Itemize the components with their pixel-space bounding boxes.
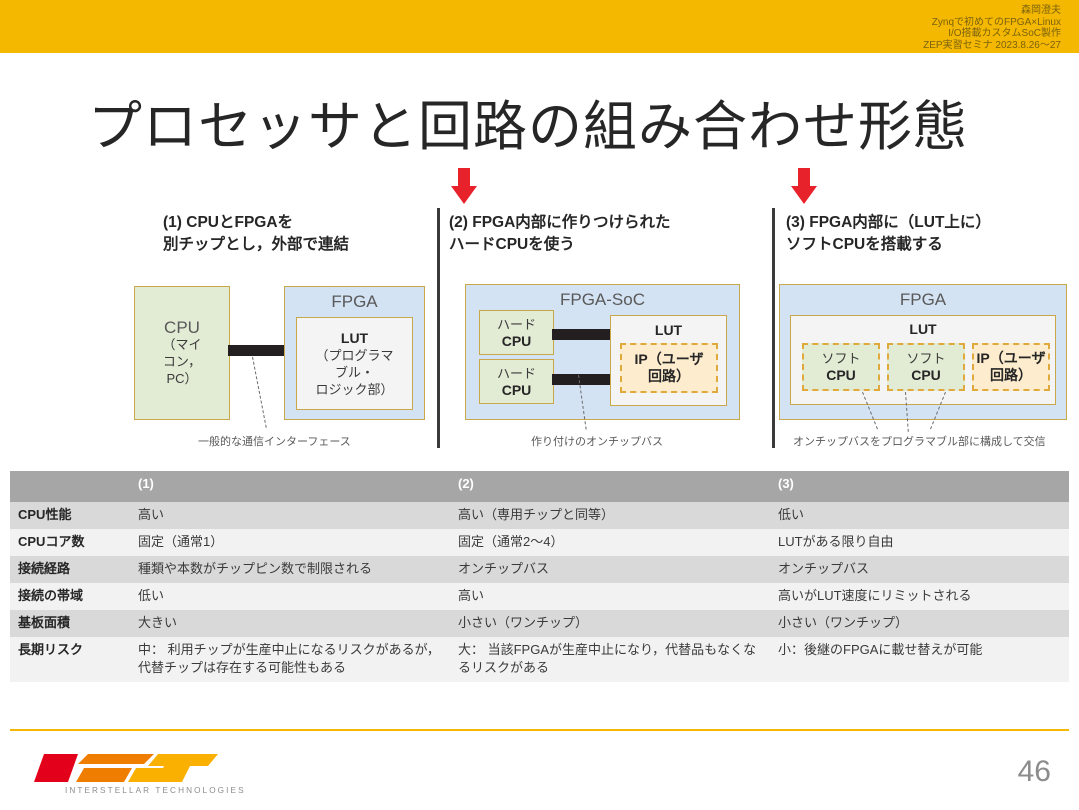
table-cell-3: 低い: [770, 502, 1069, 529]
table-row-label: 長期リスク: [10, 637, 130, 682]
diagram2-soc-label: FPGA-SoC: [466, 290, 739, 310]
diagram3-softcpu1-line2: CPU: [804, 367, 878, 384]
diagram2-onchip-bus-1: [552, 329, 612, 340]
table-cell-1: 種類や本数がチップピン数で制限される: [130, 556, 450, 583]
page-number: 46: [1018, 755, 1051, 789]
column-heading-3-line1: (3) FPGA内部に（LUT上に）: [786, 212, 1079, 234]
header-line-1: 森岡澄夫: [923, 5, 1061, 17]
table-row: CPU性能 高い 高い（専用チップと同等） 低い: [10, 502, 1069, 529]
diagram1-cpu-line3: コン，: [135, 353, 229, 370]
diagram1-fpga-label: FPGA: [285, 292, 424, 312]
diagram2-hardcpu-box-1: ハード CPU: [479, 310, 554, 355]
diagram3-ip-box: IP（ユーザ 回路）: [972, 343, 1050, 391]
table-row-label: CPUコア数: [10, 529, 130, 556]
diagram2-onchip-bus-2: [552, 374, 612, 385]
table-cell-3: 小：後継のFPGAに載せ替えが可能: [770, 637, 1069, 682]
table-row-label: 基板面積: [10, 610, 130, 637]
column-heading-3-line2: ソフトCPUを搭載する: [786, 234, 1079, 256]
table-cell-3: オンチップバス: [770, 556, 1069, 583]
table-row: 長期リスク 中： 利用チップが生産中止になるリスクがあるが，代替チップは存在する…: [10, 637, 1069, 682]
header-line-2: Zynqで初めてのFPGA×Linux: [923, 17, 1061, 29]
arrow-down-icon-3: [791, 168, 817, 204]
table-cell-2: オンチップバス: [450, 556, 770, 583]
table-header-3: (3): [770, 471, 1069, 502]
diagram2-ip-box: IP（ユーザ 回路）: [620, 343, 718, 393]
diagram1-caption: 一般的な通信インターフェース: [198, 433, 351, 449]
diagram2-hardcpu2-label: ハード CPU: [480, 365, 553, 399]
diagram1-interface-bus: [228, 345, 286, 356]
diagram3-fpga-box: FPGA LUT ソフト CPU ソフト CPU IP（ユーザ 回路）: [779, 284, 1067, 420]
diagram1-cpu-box: CPU （マイ コン， PC）: [134, 286, 230, 420]
table-header-blank: [10, 471, 130, 502]
diagram1-lut-label: LUT （プログラマ ブル・ ロジック部）: [297, 330, 412, 398]
diagram3-softcpu1-line1: ソフト: [804, 350, 878, 367]
diagram1-cpu-line4: PC）: [135, 370, 229, 387]
comparison-table: (1) (2) (3) CPU性能 高い 高い（専用チップと同等） 低い CPU…: [10, 471, 1069, 682]
diagram3-lut-title: LUT: [791, 321, 1055, 337]
table-row-label: 接続経路: [10, 556, 130, 583]
column-heading-2-line2: ハードCPUを使う: [449, 234, 769, 256]
table-header-1: (1): [130, 471, 450, 502]
interstellar-technologies-logo: INTERSTELLAR TECHNOLOGIES: [32, 752, 237, 800]
diagram2-hardcpu1-line1: ハード: [480, 316, 553, 333]
table-cell-1: 大きい: [130, 610, 450, 637]
diagram2-lut-box: LUT IP（ユーザ 回路）: [610, 315, 727, 406]
table-cell-2: 高い（専用チップと同等）: [450, 502, 770, 529]
diagram3-lut-box: LUT ソフト CPU ソフト CPU IP（ユーザ 回路）: [790, 315, 1056, 405]
diagram3-caption: オンチップバスをプログラマブル部に構成して交信: [793, 433, 1046, 449]
logo-wordmark: INTERSTELLAR TECHNOLOGIES: [65, 786, 265, 795]
column-divider-2: [772, 208, 775, 448]
diagram1-lut-box: LUT （プログラマ ブル・ ロジック部）: [296, 317, 413, 410]
header-bar: 森岡澄夫 Zynqで初めてのFPGA×Linux I/O搭載カスタムSoC製作 …: [0, 0, 1079, 53]
page-title: プロセッサと回路の組み合わせ形態: [88, 82, 968, 161]
diagram2-hardcpu2-line2: CPU: [480, 382, 553, 399]
table-row-label: CPU性能: [10, 502, 130, 529]
diagram3-softcpu-box-2: ソフト CPU: [887, 343, 965, 391]
column-heading-1: (1) CPUとFPGAを 別チップとし，外部で連結: [163, 212, 433, 256]
table-cell-1: 固定（通常1）: [130, 529, 450, 556]
header-line-3: I/O搭載カスタムSoC製作: [923, 28, 1061, 40]
diagram1-fpga-box: FPGA LUT （プログラマ ブル・ ロジック部）: [284, 286, 425, 420]
table-row: 基板面積 大きい 小さい（ワンチップ） 小さい（ワンチップ）: [10, 610, 1069, 637]
diagram2-hardcpu-box-2: ハード CPU: [479, 359, 554, 404]
ist-logo-mark: [32, 752, 237, 786]
diagram2-hardcpu2-line1: ハード: [480, 365, 553, 382]
table-cell-3: 小さい（ワンチップ）: [770, 610, 1069, 637]
diagram3-fpga-label: FPGA: [780, 290, 1066, 310]
table-cell-2: 小さい（ワンチップ）: [450, 610, 770, 637]
column-heading-1-line2: 別チップとし，外部で連結: [163, 234, 433, 256]
diagram3-ip-label: IP（ユーザ 回路）: [974, 350, 1048, 384]
diagram2-hardcpu1-label: ハード CPU: [480, 316, 553, 350]
diagram1-cpu-line2: （マイ: [135, 336, 229, 353]
diagram2-ip-line1: IP（ユーザ: [622, 351, 716, 368]
table-cell-2: 固定（通常2〜4）: [450, 529, 770, 556]
table-header-2: (2): [450, 471, 770, 502]
diagram2-ip-label: IP（ユーザ 回路）: [622, 351, 716, 385]
diagram1-lut-title: LUT: [297, 330, 412, 347]
column-heading-2-line1: (2) FPGA内部に作りつけられた: [449, 212, 769, 234]
table-cell-1: 高い: [130, 502, 450, 529]
diagram2-caption: 作り付けのオンチップバス: [531, 433, 663, 449]
diagram3-softcpu2-line2: CPU: [889, 367, 963, 384]
diagram1-lut-sub2: ブル・: [297, 364, 412, 381]
diagram3-softcpu2-line1: ソフト: [889, 350, 963, 367]
diagram3-ip-line1: IP（ユーザ: [974, 350, 1048, 367]
column-heading-2: (2) FPGA内部に作りつけられた ハードCPUを使う: [449, 212, 769, 256]
column-heading-1-line1: (1) CPUとFPGAを: [163, 212, 433, 234]
table-header-row: (1) (2) (3): [10, 471, 1069, 502]
diagram1-lut-sub1: （プログラマ: [297, 347, 412, 364]
table-cell-2: 大： 当該FPGAが生産中止になり，代替品もなくなるリスクがある: [450, 637, 770, 682]
diagram3-softcpu1-label: ソフト CPU: [804, 350, 878, 384]
diagram3-softcpu-box-1: ソフト CPU: [802, 343, 880, 391]
diagram1-cpu-line1: CPU: [135, 319, 229, 336]
column-heading-3: (3) FPGA内部に（LUT上に） ソフトCPUを搭載する: [786, 212, 1079, 256]
diagram3-ip-line2: 回路）: [974, 367, 1048, 384]
diagram1-caption-leader: [252, 357, 267, 428]
table-cell-1: 低い: [130, 583, 450, 610]
diagram1-cpu-label: CPU （マイ コン， PC）: [135, 319, 229, 387]
column-divider-1: [437, 208, 440, 448]
arrow-down-icon-2: [451, 168, 477, 204]
table-cell-2: 高い: [450, 583, 770, 610]
table-cell-1: 中： 利用チップが生産中止になるリスクがあるが，代替チップは存在する可能性もある: [130, 637, 450, 682]
diagram2-lut-title: LUT: [611, 322, 726, 338]
table-row-label: 接続の帯域: [10, 583, 130, 610]
table-row: 接続の帯域 低い 高い 高いがLUT速度にリミットされる: [10, 583, 1069, 610]
diagram2-hardcpu1-line2: CPU: [480, 333, 553, 350]
table-bottom-rule: [10, 729, 1069, 731]
diagram1-lut-sub3: ロジック部）: [297, 381, 412, 398]
header-line-4: ZEP実習セミナ 2023.8.26〜27: [923, 40, 1061, 52]
header-meta-text: 森岡澄夫 Zynqで初めてのFPGA×Linux I/O搭載カスタムSoC製作 …: [923, 5, 1061, 51]
table-cell-3: LUTがある限り自由: [770, 529, 1069, 556]
table-row: 接続経路 種類や本数がチップピン数で制限される オンチップバス オンチップバス: [10, 556, 1069, 583]
diagram3-softcpu2-label: ソフト CPU: [889, 350, 963, 384]
table-cell-3: 高いがLUT速度にリミットされる: [770, 583, 1069, 610]
diagram2-ip-line2: 回路）: [622, 368, 716, 385]
table-row: CPUコア数 固定（通常1） 固定（通常2〜4） LUTがある限り自由: [10, 529, 1069, 556]
diagram2-fpga-soc-box: FPGA-SoC ハード CPU ハード CPU LUT IP（ユーザ 回路）: [465, 284, 740, 420]
